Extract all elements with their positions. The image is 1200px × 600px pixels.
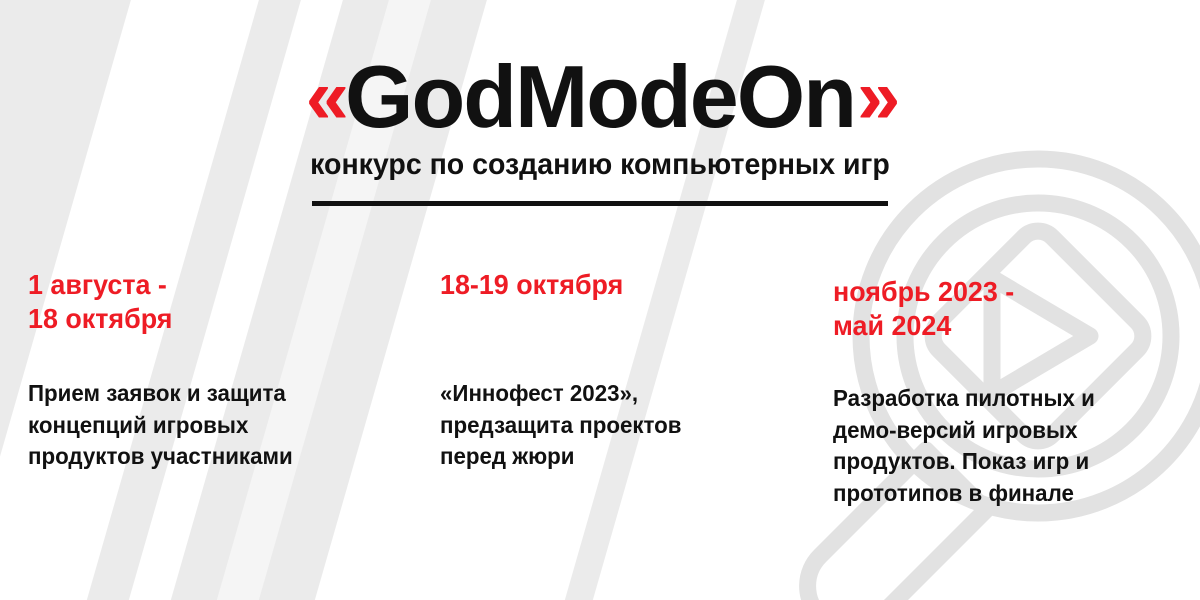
guillemet-open-icon: « bbox=[306, 52, 343, 140]
title-divider bbox=[312, 201, 888, 206]
timeline-column: ноябрь 2023 - май 2024 Разработка пилотн… bbox=[833, 268, 1193, 509]
brand-name: GodModeOn bbox=[345, 47, 855, 146]
timeline-columns: 1 августа - 18 октября Прием заявок и за… bbox=[0, 268, 1200, 568]
timeline-column: 1 августа - 18 октября Прием заявок и за… bbox=[28, 268, 398, 473]
poster-content: «GodModeOn» конкурс по созданию компьюте… bbox=[0, 0, 1200, 600]
page-title: «GodModeOn» bbox=[0, 52, 1200, 142]
title-block: «GodModeOn» конкурс по созданию компьюте… bbox=[0, 52, 1200, 206]
timeline-date: 1 августа - 18 октября bbox=[28, 268, 383, 336]
timeline-column: 18-19 октября «Иннофест 2023», предзащит… bbox=[440, 268, 800, 473]
timeline-date: ноябрь 2023 - май 2024 bbox=[833, 268, 1179, 343]
guillemet-close-icon: » bbox=[857, 52, 894, 140]
timeline-description: Разработка пилотных и демо-версий игровы… bbox=[833, 343, 1182, 509]
page-subtitle: конкурс по созданию компьютерных игр bbox=[30, 148, 1170, 181]
timeline-date: 18-19 октября bbox=[440, 268, 786, 302]
poster-canvas: «GodModeOn» конкурс по созданию компьюте… bbox=[0, 0, 1200, 600]
timeline-description: «Иннофест 2023», предзащита проектов пер… bbox=[440, 302, 789, 473]
timeline-description: Прием заявок и защита концепций игровых … bbox=[28, 336, 387, 473]
